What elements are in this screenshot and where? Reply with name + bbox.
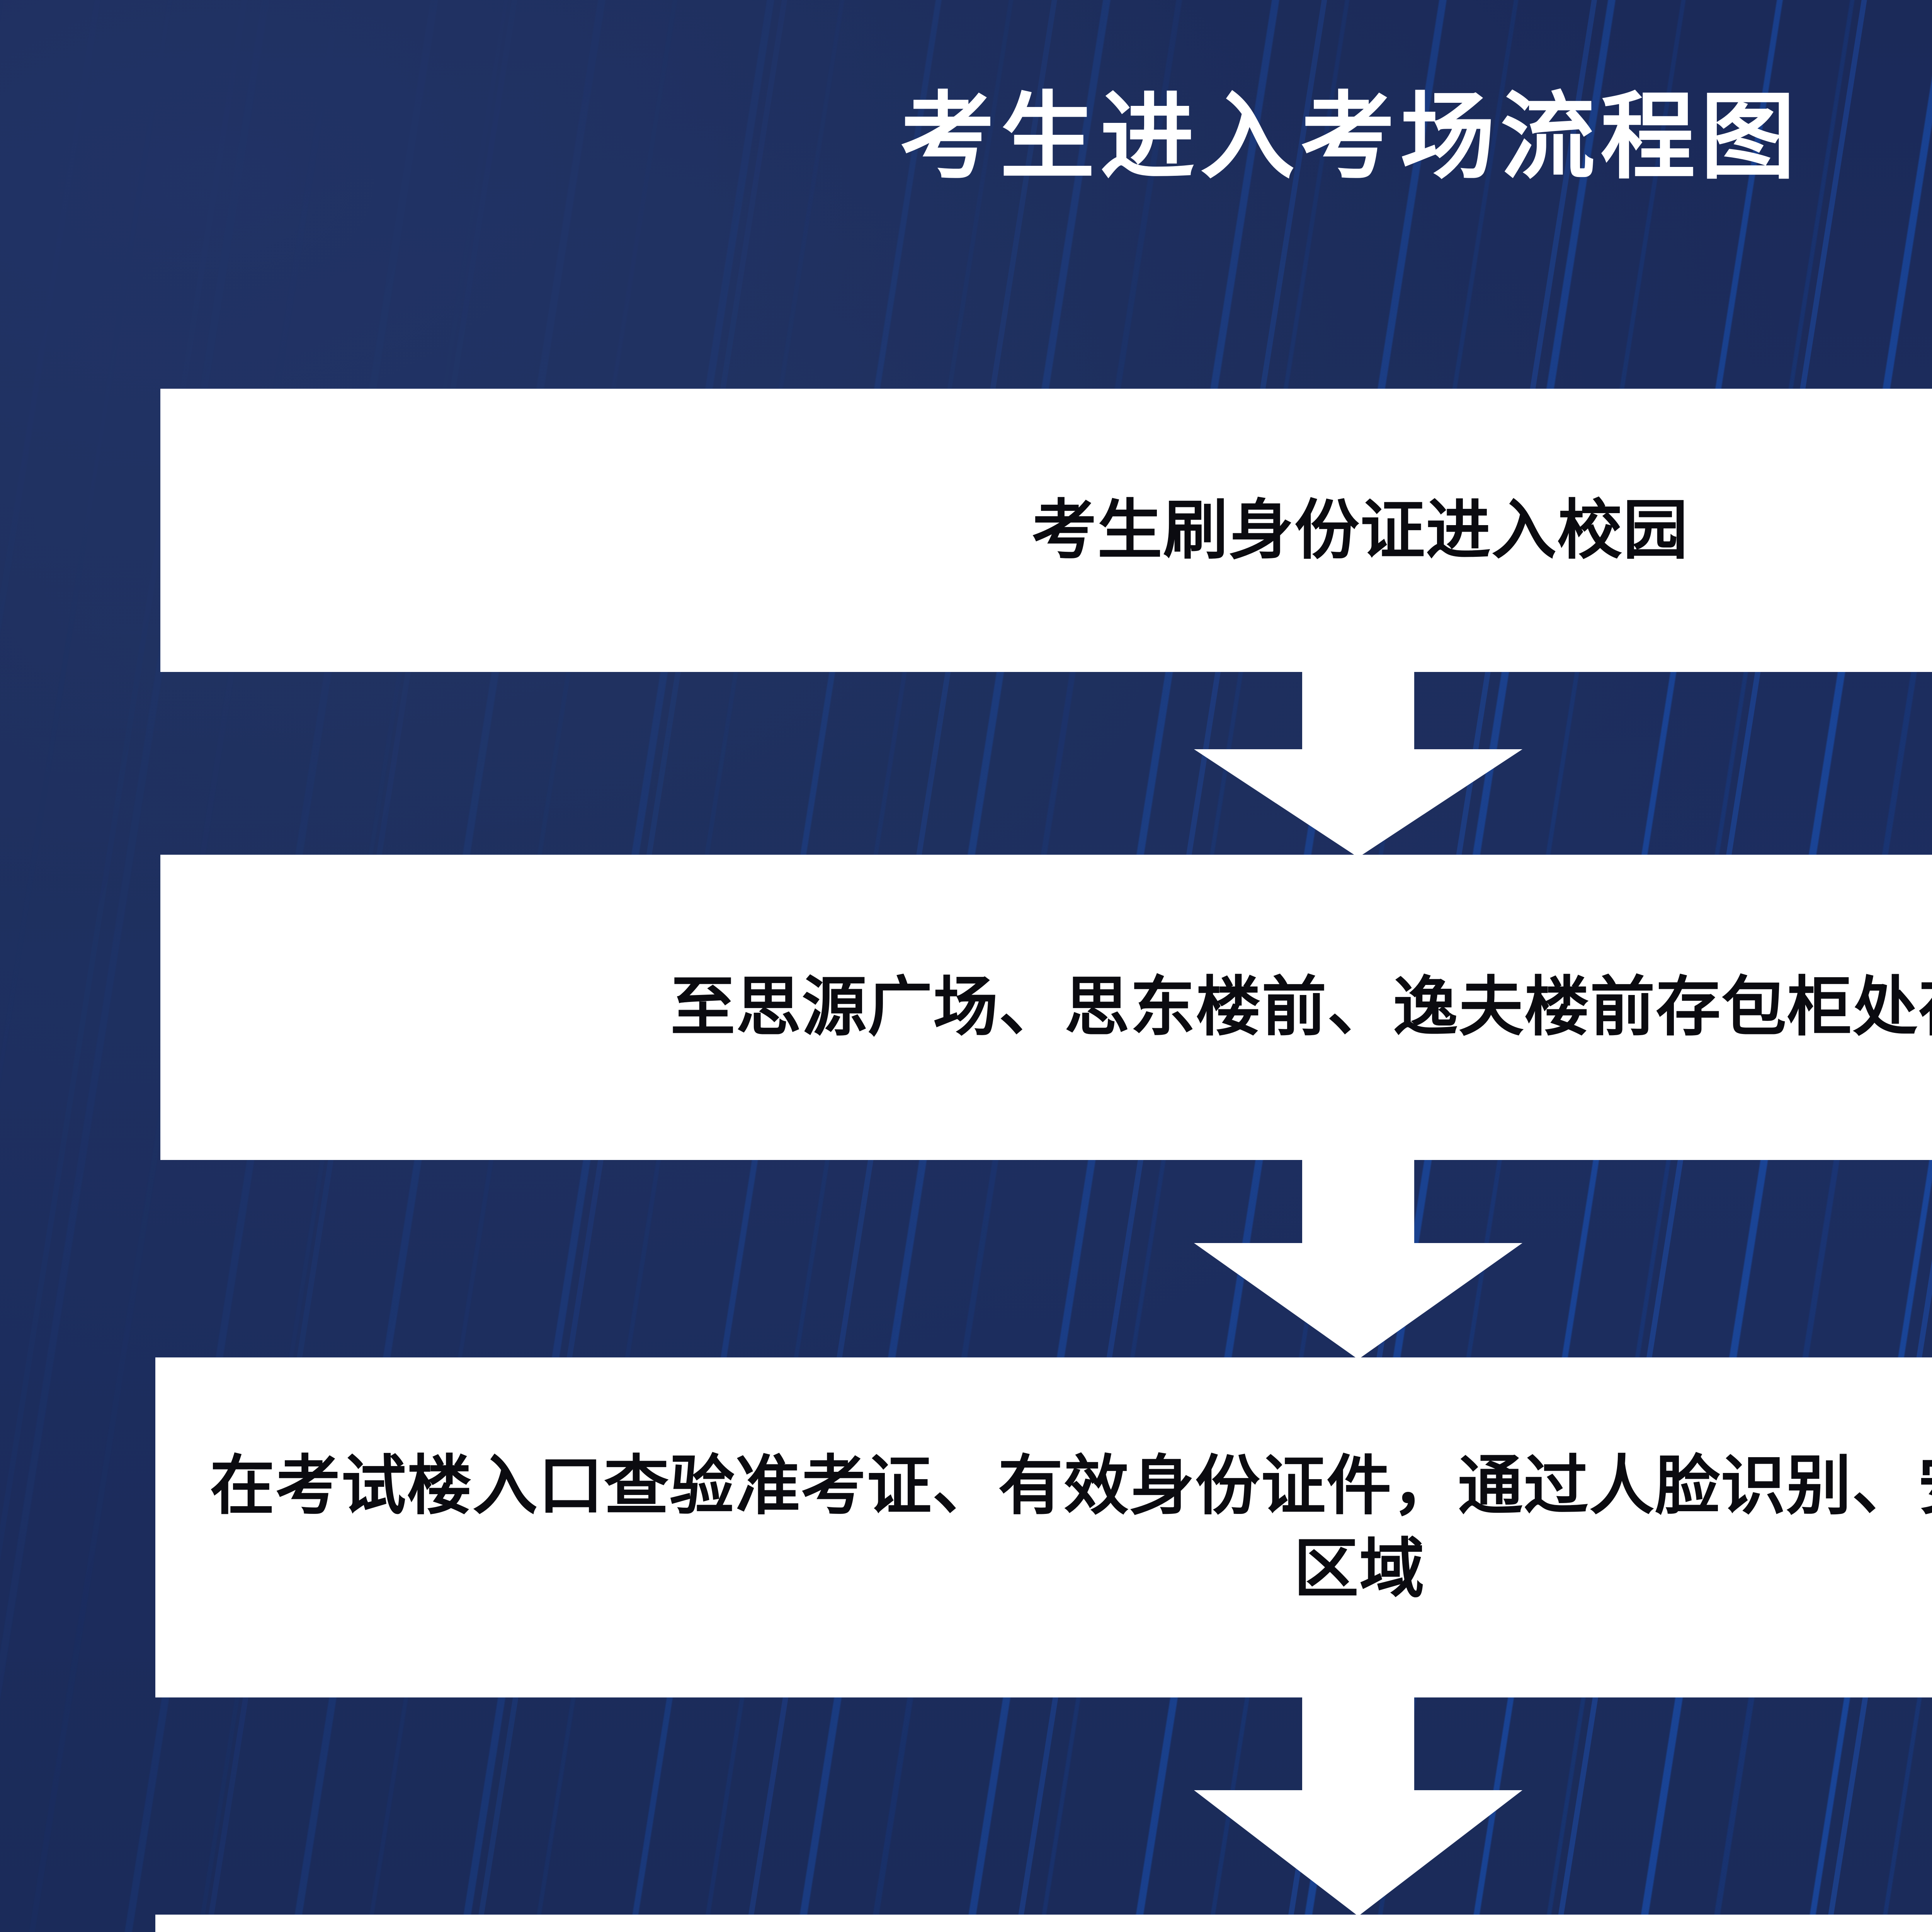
flowchart-content: 考生进入考场流程图 考生刷身份证进入校园 至思源广场、思东楼前、逸夫楼前存包柜处… bbox=[0, 0, 1932, 1932]
page-title: 考生进入考场流程图 bbox=[0, 90, 1932, 184]
flow-node-step-3[interactable]: 在考试楼入口查验准考证、有效身份证件，通过人脸识别、安检后进入考试封闭区域 bbox=[155, 1357, 1932, 1697]
flow-node-step-2[interactable]: 至思源广场、思东楼前、逸夫楼前存包柜处存包 bbox=[160, 855, 1932, 1160]
flow-node-step-1[interactable]: 考生刷身份证进入校园 bbox=[160, 389, 1932, 672]
down-arrow-icon-1 bbox=[1136, 672, 1580, 857]
down-arrow-icon-3 bbox=[1136, 1697, 1580, 1916]
flow-node-step-4[interactable]: 在考场教室门口接受监考员手持金属探测仪安检 bbox=[155, 1915, 1932, 1932]
down-arrow-icon-2 bbox=[1136, 1160, 1580, 1359]
